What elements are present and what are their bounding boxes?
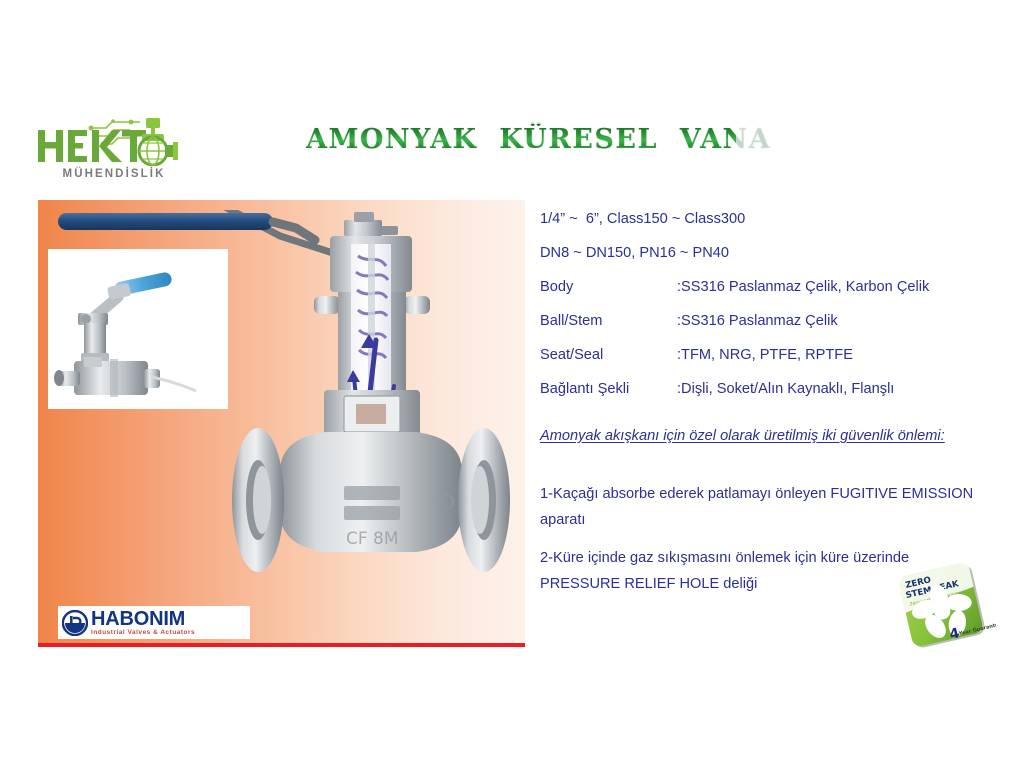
- spec-dn-pn-range: DN8 ~ DN150, PN16 ~ PN40: [540, 236, 1010, 270]
- valve-inset-photo: [48, 249, 228, 409]
- habonim-tagline: Industrial Valves & Actuators: [91, 630, 195, 636]
- spec-label-body: Body: [540, 270, 677, 304]
- zero-stem-leak-badge: ZERO STEM LEAK Zero Leakage Guaranteed 4…: [892, 558, 996, 656]
- habonim-logo: HABONIM Industrial Valves & Actuators: [58, 606, 250, 639]
- spec-value-connection: :Dişli, Soket/Alın Kaynaklı, Flanşlı: [677, 372, 894, 406]
- spec-size-range: 1/4” ~ 6”, Class150 ~ Class300: [540, 202, 1010, 236]
- spec-value-seat-seal: :TFM, NRG, PTFE, RPTFE: [677, 338, 853, 372]
- habonim-name: HABONIM: [91, 609, 195, 629]
- spec-row-seat-seal: Seat/Seal :TFM, NRG, PTFE, RPTFE: [540, 338, 1010, 372]
- hekto-logo: MÜHENDİSLİK: [34, 106, 194, 188]
- hekto-logo-mark: [34, 106, 194, 166]
- spec-label-ball-stem: Ball/Stem: [540, 304, 677, 338]
- spec-label-connection: Bağlantı Şekli: [540, 372, 677, 406]
- panel-red-divider: [38, 643, 525, 647]
- spec-row-body: Body :SS316 Paslanmaz Çelik, Karbon Çeli…: [540, 270, 1010, 304]
- product-image-panel: CF 8M: [38, 200, 525, 646]
- habonim-mark-icon: [62, 610, 88, 636]
- svg-text:CF 8M: CF 8M: [346, 529, 399, 549]
- spec-label-seat-seal: Seat/Seal: [540, 338, 677, 372]
- safety-heading: Amonyak akışkanı için özel olarak üretil…: [540, 424, 988, 449]
- hekto-letters-icon: [38, 130, 146, 162]
- spec-value-body: :SS316 Paslanmaz Çelik, Karbon Çelik: [677, 270, 929, 304]
- mini-ball-valve-image: [48, 249, 228, 409]
- specification-list: 1/4” ~ 6”, Class150 ~ Class300 DN8 ~ DN1…: [540, 202, 1010, 406]
- page-title: AMONYAK KÜRESEL VANA: [306, 124, 736, 155]
- spec-row-connection: Bağlantı Şekli :Dişli, Soket/Alın Kaynak…: [540, 372, 1010, 406]
- safety-item-1: 1-Kaçağı absorbe ederek patlamayı önleye…: [540, 481, 980, 533]
- hekto-logo-subtitle: MÜHENDİSLİK: [34, 168, 194, 180]
- globe-valve-icon: [139, 118, 178, 165]
- spec-row-ball-stem: Ball/Stem :SS316 Paslanmaz Çelik: [540, 304, 1010, 338]
- slide-canvas: MÜHENDİSLİK AMONYAK KÜRESEL VANA: [0, 0, 1024, 768]
- spec-value-ball-stem: :SS316 Paslanmaz Çelik: [677, 304, 838, 338]
